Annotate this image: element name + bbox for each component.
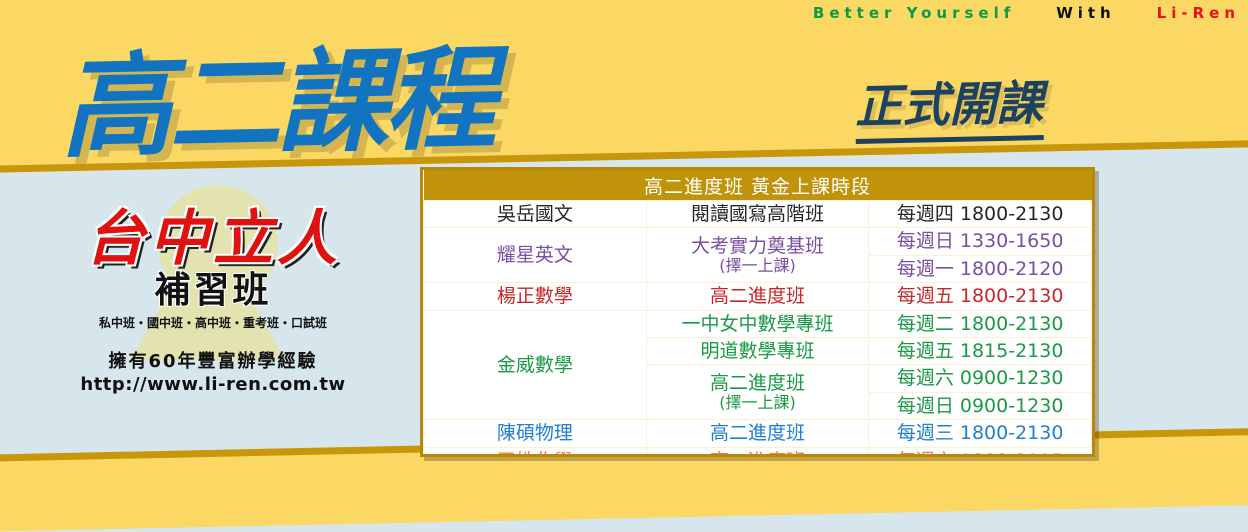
teacher-cell: 金威數學 [424, 310, 647, 420]
course-note: (擇一上課) [647, 257, 869, 276]
course-note: (擇一上課) [647, 394, 869, 413]
teacher-cell: 吳岳國文 [424, 201, 647, 228]
course-name: 大考實力奠基班 [691, 235, 824, 257]
time-cell: 每週六 0900-1230 [869, 365, 1092, 392]
tagline-part1: Better Yourself [813, 4, 1015, 22]
schedule-table-container: 高二進度班 黃金上課時段 吳岳國文閱讀國寫高階班每週四 1800-2130耀星英… [420, 167, 1095, 457]
tagline: Better Yourself With Li-Ren [640, 0, 1240, 26]
page-title: 高二課程 [58, 8, 493, 179]
teacher-cell: 楊正數學 [424, 283, 647, 310]
course-name: 高二進度班 [710, 422, 805, 444]
table-row: 吳岳國文閱讀國寫高階班每週四 1800-2130 [424, 201, 1092, 228]
course-name: 高二進度班 [710, 450, 805, 457]
teacher-cell: 耀星英文 [424, 228, 647, 283]
table-row: 王皓化學高二進度班每週六 1800-2115 [424, 447, 1092, 457]
course-cell: 高二進度班 [646, 447, 869, 457]
course-cell: 高二進度班 [646, 283, 869, 310]
table-row: 楊正數學高二進度班每週五 1800-2130 [424, 283, 1092, 310]
logo-type: 補習班 [18, 273, 408, 309]
course-name: 閱讀國寫高階班 [691, 203, 824, 225]
time-cell: 每週二 1800-2130 [869, 310, 1092, 337]
time-cell: 每週一 1800-2120 [869, 255, 1092, 282]
course-name: 一中女中數學專班 [681, 313, 833, 335]
tagline-part3: Li-Ren [1157, 4, 1240, 22]
time-cell: 每週四 1800-2130 [869, 201, 1092, 228]
table-row: 金威數學一中女中數學專班每週二 1800-2130 [424, 310, 1092, 337]
teacher-cell: 陳碩物理 [424, 420, 647, 447]
schedule-table: 高二進度班 黃金上課時段 吳岳國文閱讀國寫高階班每週四 1800-2130耀星英… [423, 170, 1092, 457]
course-cell: 高二進度班 [646, 420, 869, 447]
schedule-table-body: 吳岳國文閱讀國寫高階班每週四 1800-2130耀星英文大考實力奠基班(擇一上課… [424, 201, 1092, 458]
time-cell: 每週日 0900-1230 [869, 392, 1092, 419]
table-row: 陳碩物理高二進度班每週三 1800-2130 [424, 420, 1092, 447]
logo-experience: 擁有60年豐富辦學經驗 [18, 347, 408, 373]
logo-url[interactable]: http://www.li-ren.com.tw [18, 374, 408, 395]
course-name: 明道數學專班 [700, 340, 814, 362]
logo-name: 台中立人 [18, 209, 408, 269]
time-cell: 每週五 1800-2130 [869, 283, 1092, 310]
course-name: 高二進度班 [710, 372, 805, 394]
logo-class-list: 私中班・國中班・高中班・重考班・口試班 [18, 314, 408, 331]
logo: 台中立人 補習班 私中班・國中班・高中班・重考班・口試班 擁有60年豐富辦學經驗… [18, 195, 408, 435]
teacher-cell: 王皓化學 [424, 447, 647, 457]
page-subtitle: 正式開課 [854, 64, 1044, 144]
course-cell: 明道數學專班 [646, 338, 869, 365]
course-cell: 高二進度班(擇一上課) [646, 365, 869, 420]
course-cell: 一中女中數學專班 [646, 310, 869, 337]
table-row: 耀星英文大考實力奠基班(擇一上課)每週日 1330-1650 [424, 228, 1092, 255]
course-name: 高二進度班 [710, 285, 805, 307]
time-cell: 每週日 1330-1650 [869, 228, 1092, 255]
table-header-row: 高二進度班 黃金上課時段 [424, 170, 1092, 201]
time-cell: 每週三 1800-2130 [869, 420, 1092, 447]
course-cell: 大考實力奠基班(擇一上課) [646, 228, 869, 283]
time-cell: 每週五 1815-2130 [869, 338, 1092, 365]
course-cell: 閱讀國寫高階班 [646, 201, 869, 228]
table-header-title: 高二進度班 黃金上課時段 [424, 170, 1092, 201]
tagline-part2: With [1056, 4, 1116, 22]
time-cell: 每週六 1800-2115 [869, 447, 1092, 457]
